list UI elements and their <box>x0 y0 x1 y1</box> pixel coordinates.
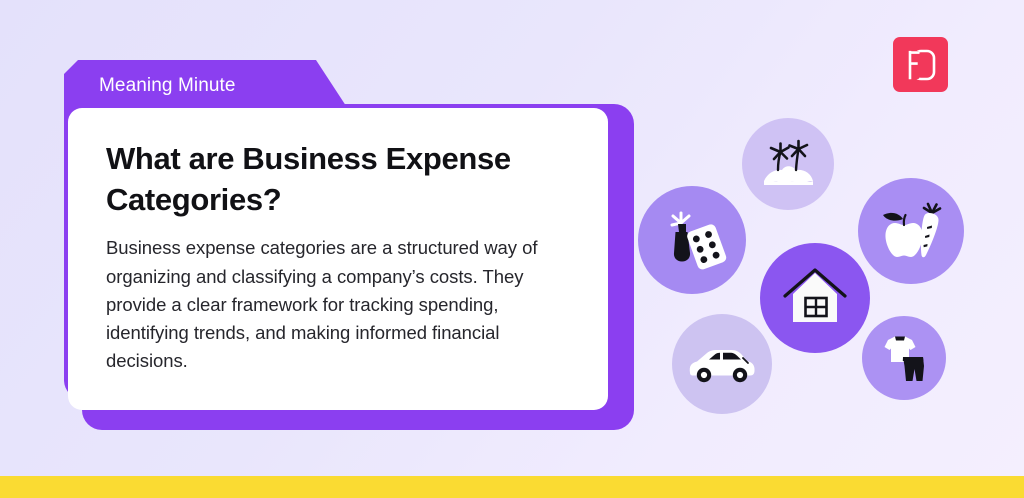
expense-category-illustration <box>630 118 990 428</box>
bubble-food <box>858 178 964 284</box>
card-tab-label: Meaning Minute <box>64 75 236 97</box>
medicine-icon <box>659 207 725 273</box>
card-description: Business expense categories are a struct… <box>106 234 564 375</box>
bubble-clothing <box>862 316 946 400</box>
bubble-travel <box>742 118 834 210</box>
palm-island-icon <box>760 139 816 189</box>
bubble-healthcare <box>638 186 746 294</box>
bottom-accent-bar <box>0 476 1024 498</box>
clothing-icon <box>877 331 931 385</box>
page-title: What are Business Expense Categories? <box>106 138 526 220</box>
card-tab: Meaning Minute <box>64 60 350 112</box>
bubble-housing <box>760 243 870 353</box>
fruit-veg-icon <box>879 201 943 261</box>
house-icon <box>782 267 848 329</box>
meaning-minute-card: Meaning Minute What are Business Expense… <box>64 60 634 430</box>
bubble-transport <box>672 314 772 414</box>
car-icon <box>687 345 757 383</box>
fj-monogram-icon <box>906 49 936 81</box>
fj-monogram-logo[interactable] <box>893 37 948 92</box>
card-surface: What are Business Expense Categories? Bu… <box>68 108 608 410</box>
